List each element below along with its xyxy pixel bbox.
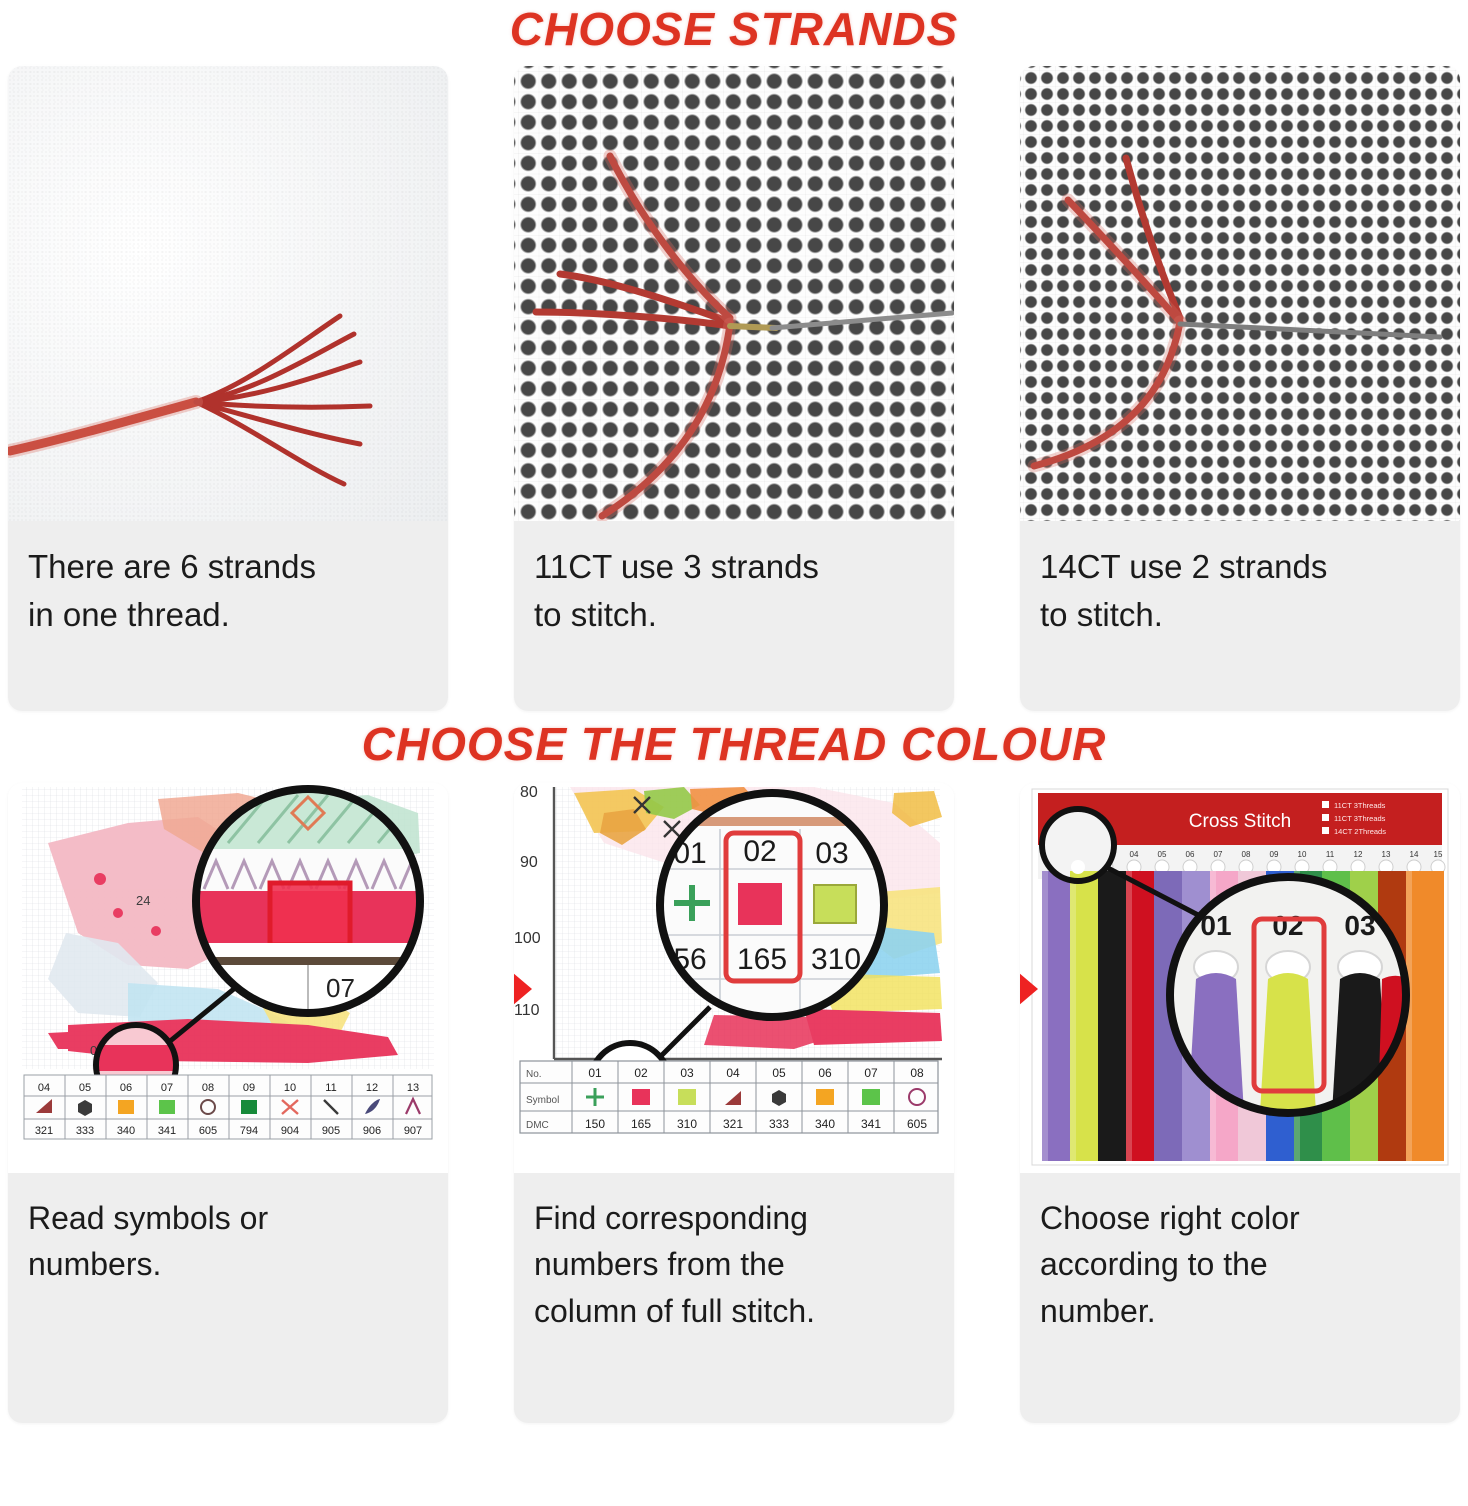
caption-line-2: to stitch. — [534, 591, 934, 639]
caption-line-1: Read symbols or — [28, 1195, 428, 1241]
svg-text:05: 05 — [1158, 850, 1167, 859]
three-strands-and-needle-illustration — [514, 66, 954, 521]
arrow-right-icon-2 — [1020, 951, 1040, 1027]
caption-14ct: 14CT use 2 strands to stitch. — [1020, 521, 1460, 711]
card-six-strands: There are 6 strands in one thread. — [8, 66, 448, 711]
caption-read-symbols: Read symbols or numbers. — [8, 1173, 448, 1423]
two-strands-and-needle-illustration — [1020, 66, 1460, 521]
svg-text:04: 04 — [1130, 850, 1139, 859]
svg-text:14: 14 — [1410, 850, 1419, 859]
photo-chart-legend-with-magnifier: 80 90 100 110 — [514, 783, 954, 1173]
svg-text:07: 07 — [1214, 850, 1223, 859]
svg-text:04: 04 — [726, 1066, 740, 1080]
svg-text:11CT 3Threads: 11CT 3Threads — [1334, 801, 1386, 810]
caption-line-1: 14CT use 2 strands — [1040, 543, 1440, 591]
pattern-chart-illustration: 24 02 — [8, 783, 448, 1173]
caption-line-1: There are 6 strands — [28, 543, 428, 591]
svg-text:10: 10 — [1298, 850, 1307, 859]
colour-card-row: 24 02 — [0, 783, 1468, 1423]
page-title-choose-strands: CHOOSE STRANDS — [0, 6, 1468, 52]
caption-line-2: to stitch. — [1040, 591, 1440, 639]
caption-line-1: 11CT use 3 strands — [534, 543, 934, 591]
card-read-symbols: 24 02 — [8, 783, 448, 1423]
svg-text:13: 13 — [1382, 850, 1391, 859]
caption-line-3: column of full stitch. — [534, 1288, 934, 1334]
svg-text:333: 333 — [769, 1117, 789, 1131]
svg-text:05: 05 — [772, 1066, 786, 1080]
photo-14ct-aida-two-strands — [1020, 66, 1460, 521]
svg-text:DMC: DMC — [526, 1120, 549, 1131]
page-title-choose-thread-colour: CHOOSE THE THREAD COLOUR — [0, 721, 1468, 767]
svg-text:03: 03 — [680, 1066, 694, 1080]
card-14ct-two-strands: 14CT use 2 strands to stitch. — [1020, 66, 1460, 711]
pattern-chart: 24 02 — [8, 783, 448, 1173]
strands-card-row: There are 6 strands in one thread. — [0, 66, 1468, 711]
svg-text:605: 605 — [907, 1117, 927, 1131]
svg-text:07: 07 — [864, 1066, 878, 1080]
svg-text:08: 08 — [1242, 850, 1251, 859]
svg-text:08: 08 — [910, 1066, 924, 1080]
caption-line-2: numbers. — [28, 1241, 428, 1287]
photo-11ct-aida-three-strands — [514, 66, 954, 521]
photo-six-strands-on-white-fabric — [8, 66, 448, 521]
svg-text:06: 06 — [1186, 850, 1195, 859]
caption-find-numbers: Find corresponding numbers from the colu… — [514, 1173, 954, 1423]
svg-text:310: 310 — [677, 1117, 697, 1131]
card-11ct-three-strands: 11CT use 3 strands to stitch. — [514, 66, 954, 711]
caption-line-2: in one thread. — [28, 591, 428, 639]
svg-text:01: 01 — [588, 1066, 602, 1080]
legend-chart: 80 90 100 110 — [514, 783, 954, 1173]
svg-text:341: 341 — [861, 1117, 881, 1131]
caption-line-1: Find corresponding — [534, 1195, 934, 1241]
svg-text:340: 340 — [815, 1117, 835, 1131]
thread-organiser: Cross Stitch 11CT 3Threads 11CT 3Threads… — [1020, 783, 1460, 1173]
svg-text:24: 24 — [136, 893, 150, 908]
thread-organiser-illustration: Cross Stitch 11CT 3Threads 11CT 3Threads… — [1020, 783, 1460, 1173]
svg-text:12: 12 — [1354, 850, 1363, 859]
photo-thread-organiser-with-magnifier: Cross Stitch 11CT 3Threads 11CT 3Threads… — [1020, 783, 1460, 1173]
arrow-right-icon-1 — [514, 951, 534, 1027]
photo-pattern-chart-with-magnifier: 24 02 — [8, 783, 448, 1173]
caption-line-2: according to the — [1040, 1241, 1440, 1287]
card-find-numbers: 80 90 100 110 — [514, 783, 954, 1423]
svg-text:09: 09 — [1270, 850, 1279, 859]
caption-six-strands: There are 6 strands in one thread. — [8, 521, 448, 711]
svg-text:Symbol: Symbol — [526, 1095, 559, 1106]
caption-choose-color: Choose right color according to the numb… — [1020, 1173, 1460, 1423]
svg-text:No.: No. — [526, 1069, 542, 1080]
card-choose-color: Cross Stitch 11CT 3Threads 11CT 3Threads… — [1020, 783, 1460, 1423]
full-stitch-legend-table: No. Symbol DMC 0102 0304 0506 0708 15016… — [514, 783, 954, 1173]
caption-line-1: Choose right color — [1040, 1195, 1440, 1241]
svg-text:165: 165 — [631, 1117, 651, 1131]
svg-text:07: 07 — [326, 973, 355, 1003]
svg-text:14CT 2Threads: 14CT 2Threads — [1334, 827, 1386, 836]
caption-line-2: numbers from the — [534, 1241, 934, 1287]
svg-text:11: 11 — [1326, 850, 1335, 859]
svg-text:02: 02 — [1272, 910, 1303, 941]
svg-text:Cross Stitch: Cross Stitch — [1189, 811, 1291, 832]
svg-text:11CT 3Threads: 11CT 3Threads — [1334, 814, 1386, 823]
caption-line-3: number. — [1040, 1288, 1440, 1334]
svg-text:15: 15 — [1434, 850, 1443, 859]
svg-text:06: 06 — [818, 1066, 832, 1080]
svg-text:02: 02 — [634, 1066, 648, 1080]
svg-text:321: 321 — [723, 1117, 743, 1131]
six-strands-illustration — [8, 66, 448, 521]
svg-text:150: 150 — [585, 1117, 605, 1131]
caption-11ct: 11CT use 3 strands to stitch. — [514, 521, 954, 711]
